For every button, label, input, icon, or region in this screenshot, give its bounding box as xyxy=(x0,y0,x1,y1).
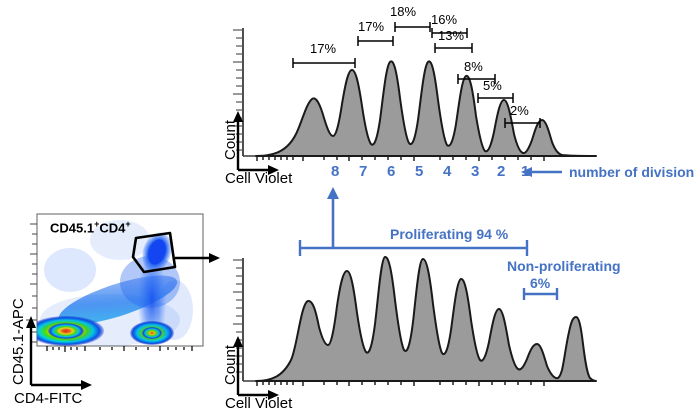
top-hist-curve xyxy=(256,61,596,156)
division-number-5: 5 xyxy=(415,163,423,180)
gate-title-sup2: + xyxy=(125,219,130,229)
nonproliferating-percent: 6% xyxy=(530,275,550,291)
top-histogram-group xyxy=(233,22,596,177)
division-number-2: 2 xyxy=(497,163,505,180)
percent-label-div6: 18% xyxy=(390,4,416,19)
scatter-gate-title: CD45.1+CD4+ xyxy=(50,219,131,235)
panel-link-arrow-up-icon xyxy=(327,187,339,247)
scatter-x-axis-arrow xyxy=(31,380,92,390)
top-hist-y-axis-label: Count xyxy=(222,120,239,160)
proliferating-label: Proliferating 94 % xyxy=(390,226,508,242)
gate-title-part1: CD45.1 xyxy=(50,220,94,235)
percent-label-div8: 17% xyxy=(310,41,336,56)
division-number-8: 8 xyxy=(331,163,339,180)
scatter-y-axis-arrow xyxy=(26,316,36,385)
gate-title-part2: CD4 xyxy=(99,220,125,235)
percent-label-div2: 5% xyxy=(483,78,502,93)
top-hist-x-axis-label: Cell Violet xyxy=(225,170,292,187)
percent-label-div4: 13% xyxy=(438,28,464,43)
percent-label-div3: 8% xyxy=(464,59,483,74)
scatter-x-axis-label: CD4-FITC xyxy=(14,390,82,407)
nonproliferating-label: Non-proliferating xyxy=(507,258,621,274)
division-number-7: 7 xyxy=(359,163,367,180)
bottom-hist-y-axis-label: Count xyxy=(222,345,239,385)
scatter-y-axis-label: CD45.1-APC xyxy=(10,298,27,385)
division-number-3: 3 xyxy=(471,163,479,180)
division-number-6: 6 xyxy=(387,163,395,180)
scatter-plot-group xyxy=(26,214,220,390)
division-number-1: 1 xyxy=(521,163,529,180)
percent-label-div7: 17% xyxy=(358,19,384,34)
scatter-x-ticks xyxy=(47,346,192,352)
division-number-4: 4 xyxy=(443,163,451,180)
figure-root: 17% 17% 18% 16% 13% 8% 5% 2% 8 7 6 5 4 3… xyxy=(0,0,700,409)
percent-label-div1: 2% xyxy=(510,103,529,118)
number-of-division-label: number of division xyxy=(569,164,694,180)
figure-canvas xyxy=(0,0,700,409)
percent-label-div5: 16% xyxy=(431,12,457,27)
bottom-hist-x-axis-label: Cell Violet xyxy=(225,395,292,412)
